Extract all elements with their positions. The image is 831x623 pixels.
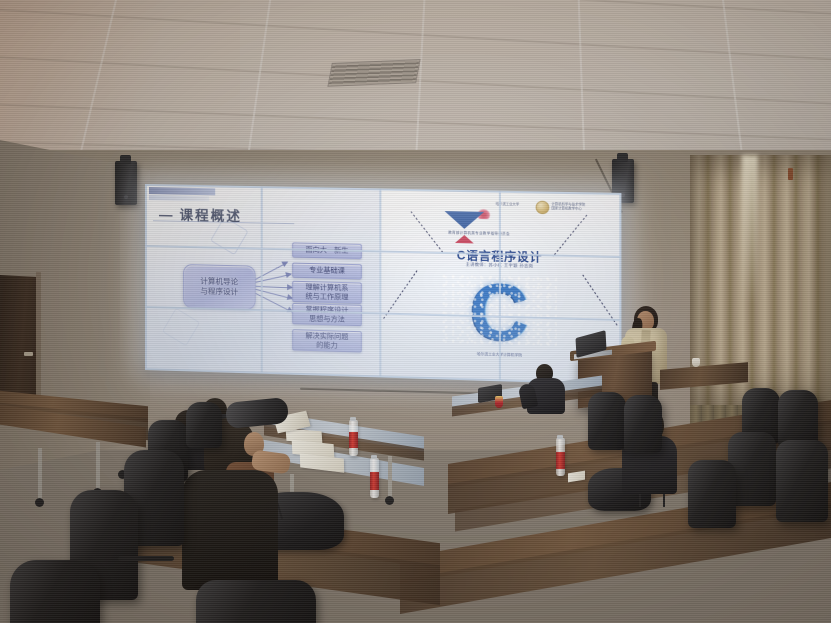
squiggle-bottom-left xyxy=(383,270,418,319)
person-torso xyxy=(182,470,278,590)
curtain-light-gap xyxy=(742,155,758,305)
center-node-label: 计算机导论 与程序设计 xyxy=(200,276,238,297)
branch-box-5: 解决实际问题 的能力 xyxy=(292,329,362,352)
caster-5 xyxy=(385,496,394,505)
c-logo-pixel-texture xyxy=(441,273,556,350)
decorative-hex-2 xyxy=(162,308,200,347)
table-leg-2 xyxy=(96,442,100,492)
table-leg-1 xyxy=(38,448,42,502)
institute-seal xyxy=(536,201,550,215)
org-right-name: 计算机科学与技术学院 国家计算机教学中心 xyxy=(551,202,593,211)
chair-right-2[interactable] xyxy=(624,395,662,453)
left-speaker-driver xyxy=(124,195,128,199)
right-speaker-driver xyxy=(621,193,625,197)
chair-armrest-left xyxy=(118,556,174,561)
video-wall[interactable]: —课程概述 计算机导论 与程序设计 面向大一新生 专业基础课 理解计算机系 统与… xyxy=(145,184,621,385)
branch-label-3: 理解计算机系 统与工作原理 xyxy=(305,283,348,302)
slide-title-banner xyxy=(149,187,215,195)
bottle-cap-left-2 xyxy=(371,455,377,459)
table-leg-4 xyxy=(388,456,392,500)
lecture-hall-photo: —课程概述 计算机导论 与程序设计 面向大一新生 专业基础课 理解计算机系 统与… xyxy=(0,0,831,623)
red-triangle-up xyxy=(455,235,474,244)
bottle-cap-left-1 xyxy=(350,417,356,421)
branch-box-1: 面向大一新生 xyxy=(292,242,362,259)
chair-right-6[interactable] xyxy=(776,440,828,522)
branch-label-4: 掌握程序设计 思想与方法 xyxy=(305,305,348,324)
slide-left-course-overview: —课程概述 计算机导论 与程序设计 面向大一新生 专业基础课 理解计算机系 统与… xyxy=(145,184,379,377)
left-speaker-mount xyxy=(120,155,131,164)
branch-label-2: 专业基础课 xyxy=(309,266,345,276)
branch-label-1: 面向大一新生 xyxy=(305,246,348,256)
door-handle[interactable] xyxy=(24,352,33,356)
chair-right-1[interactable] xyxy=(588,392,626,450)
slide-subtitle: 教育部计算机类专业教学指导委员会 xyxy=(417,229,542,237)
branch-label-5: 解决实际问题 的能力 xyxy=(305,331,348,350)
slide-logo-row: 哈尔滨工业大学 计算机科学与技术学院 国家计算机教学中心 xyxy=(408,197,591,215)
bottle-label-right-1 xyxy=(556,452,565,469)
branch-box-4: 掌握程序设计 思想与方法 xyxy=(292,303,362,326)
paper-cup xyxy=(692,358,700,367)
bottle-cap-right-1 xyxy=(557,435,563,439)
chair-left-5[interactable] xyxy=(10,560,100,623)
diagram-center-node: 计算机导论 与程序设计 xyxy=(183,264,256,310)
chair-right-7[interactable] xyxy=(688,460,736,528)
right-speaker-mount xyxy=(617,153,628,162)
bottle-label-left-2 xyxy=(370,472,379,490)
branch-box-2: 专业基础课 xyxy=(292,263,362,280)
caster-1 xyxy=(35,498,44,507)
ceiling-air-vent xyxy=(327,59,420,87)
curtain-clip xyxy=(788,168,793,180)
chair-foreground-1[interactable] xyxy=(196,580,316,623)
squiggle-bottom-right xyxy=(582,274,618,325)
bottle-label-left-1 xyxy=(349,432,358,448)
org-left-name: 哈尔滨工业大学 xyxy=(496,202,519,207)
arrow-3 xyxy=(256,286,293,289)
blue-triangle-down xyxy=(445,211,485,229)
chair-left-2[interactable] xyxy=(186,402,222,448)
drink-cup-right xyxy=(495,396,503,408)
branch-box-3: 理解计算机系 统与工作原理 xyxy=(292,281,362,304)
slide-title-banner-2 xyxy=(149,195,209,201)
